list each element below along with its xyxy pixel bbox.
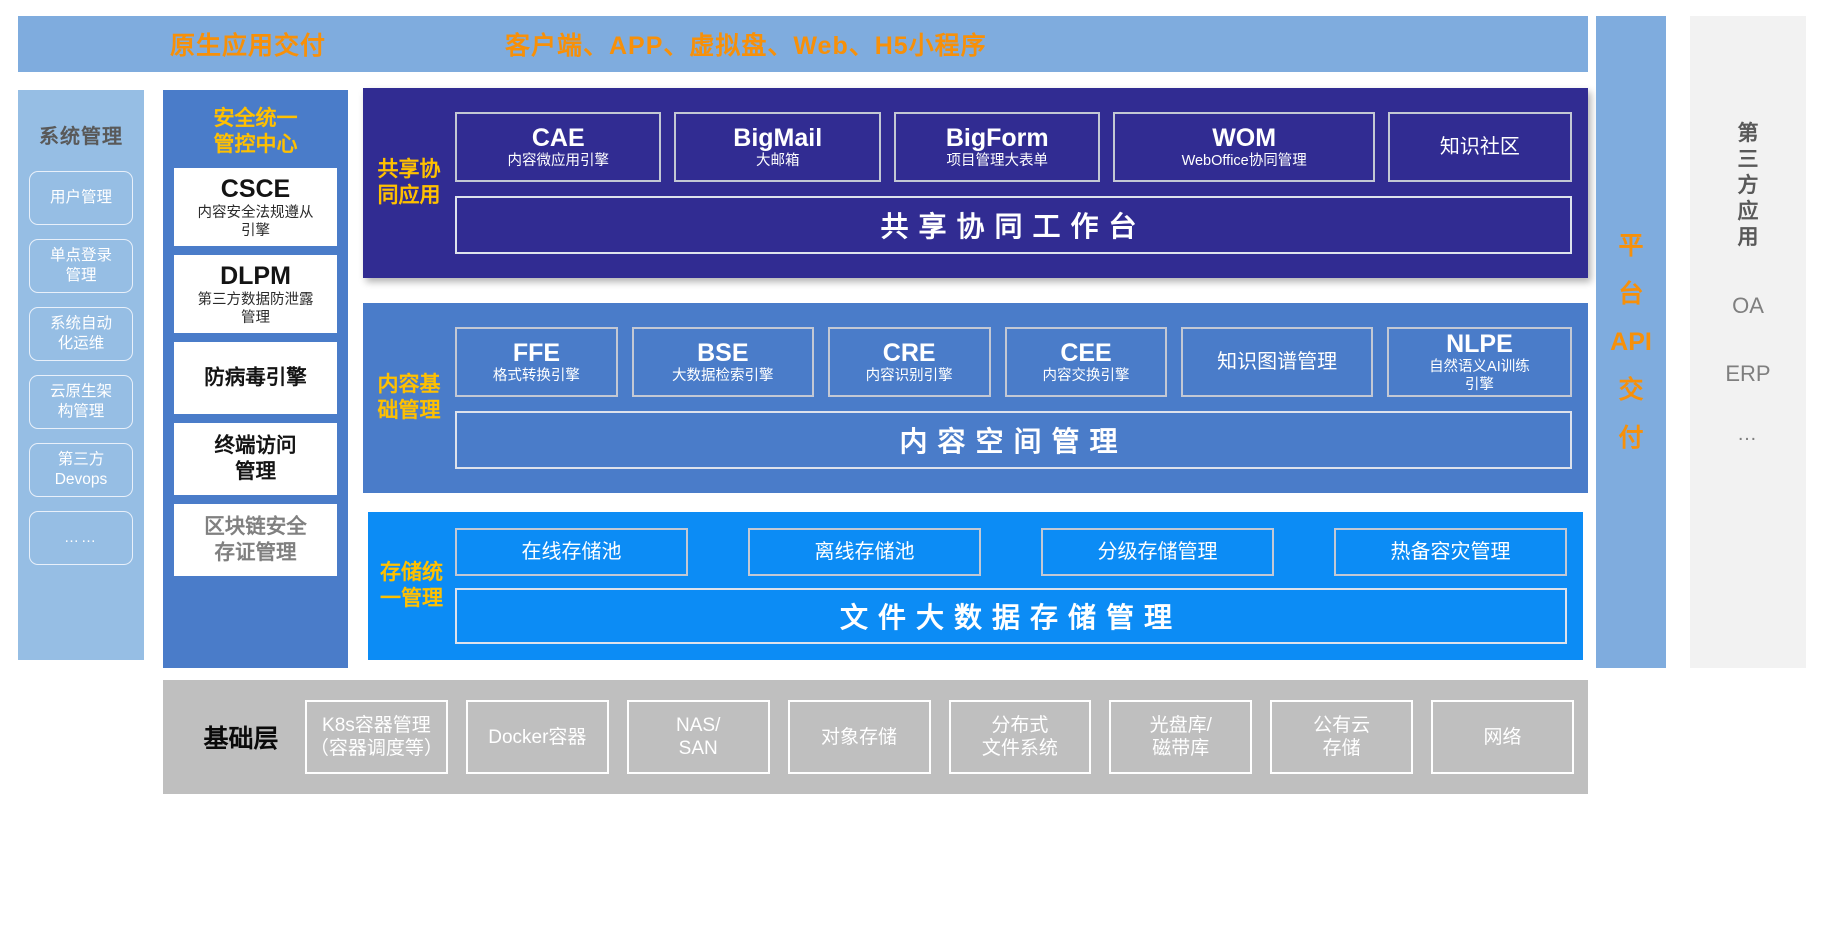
architecture-diagram: 原生应用交付 客户端、APP、虚拟盘、Web、H5小程序 系统管理 用户管理 单…: [0, 0, 1823, 928]
tiered-storage-mgmt-label: 分级存储管理: [1098, 540, 1218, 564]
infrastructure-tiles: K8s容器管理 （容器调度等） Docker容器 NAS/ SAN 对象存储 分…: [305, 700, 1574, 774]
content-foundation-tiles: FFE 格式转换引擎 BSE 大数据检索引擎 CRE 内容识别引擎 CEE 内容…: [455, 327, 1588, 397]
tile-tiered-storage-mgmt[interactable]: 分级存储管理: [1041, 528, 1274, 576]
bigform-code: BigForm: [946, 124, 1049, 153]
infra-tile-distributed-fs[interactable]: 分布式 文件系统: [949, 700, 1092, 774]
third-party-item-erp[interactable]: ERP: [1725, 361, 1770, 387]
platform-api-label: 平 台 API 交 付: [1610, 222, 1652, 462]
native-delivery-label: 原生应用交付: [170, 26, 326, 62]
third-party-item-oa[interactable]: OA: [1732, 293, 1764, 319]
cre-desc: 内容识别引擎: [866, 368, 953, 386]
bigmail-desc: 大邮箱: [756, 153, 800, 171]
infra-tile-object-storage[interactable]: 对象存储: [788, 700, 931, 774]
content-space-management-bar[interactable]: 内容空间管理: [455, 411, 1572, 469]
system-management-title: 系统管理: [39, 120, 123, 149]
system-management-column: 系统管理 用户管理 单点登录 管理 系统自动 化运维 云原生架 构管理 第三方 …: [18, 90, 144, 660]
security-control-center-column: 安全统一 管控中心 CSCE 内容安全法规遵从 引擎 DLPM 第三方数据防泄露…: [163, 90, 348, 668]
antivirus-engine-label: 防病毒引擎: [204, 365, 307, 391]
tile-bigmail[interactable]: BigMail 大邮箱: [674, 112, 880, 182]
third-party-item-more[interactable]: …: [1737, 423, 1759, 446]
tile-ffe[interactable]: FFE 格式转换引擎: [455, 327, 618, 397]
bse-desc: 大数据检索引擎: [672, 368, 774, 386]
shared-collaboration-tiles: CAE 内容微应用引擎 BigMail 大邮箱 BigForm 项目管理大表单 …: [455, 112, 1588, 182]
cee-code: CEE: [1060, 339, 1111, 368]
infra-tile-k8s[interactable]: K8s容器管理 （容器调度等）: [305, 700, 448, 774]
csce-code: CSCE: [221, 174, 290, 204]
sidebar-item-more[interactable]: ……: [29, 511, 133, 565]
blockchain-evidence-label: 区块链安全 存证管理: [204, 514, 307, 566]
security-item-csce[interactable]: CSCE 内容安全法规遵从 引擎: [174, 168, 337, 246]
nlpe-desc: 自然语义AI训练 引擎: [1429, 359, 1530, 394]
tile-cee[interactable]: CEE 内容交换引擎: [1005, 327, 1168, 397]
tile-cae[interactable]: CAE 内容微应用引擎: [455, 112, 661, 182]
infra-tile-nas-san[interactable]: NAS/ SAN: [627, 700, 770, 774]
hot-standby-dr-label: 热备容灾管理: [1391, 540, 1511, 564]
storage-tiles: 在线存储池 离线存储池 分级存储管理 热备容灾管理: [455, 528, 1583, 576]
dlpm-desc: 第三方数据防泄露 管理: [198, 291, 314, 327]
shared-collaboration-panel: 共享协 同应用 CAE 内容微应用引擎 BigMail 大邮箱 BigForm …: [363, 88, 1588, 278]
storage-unified-label: 存储统 一管理: [368, 512, 455, 660]
tile-bse[interactable]: BSE 大数据检索引擎: [632, 327, 814, 397]
top-delivery-banner: 原生应用交付 客户端、APP、虚拟盘、Web、H5小程序: [18, 16, 1588, 72]
tile-knowledge-community[interactable]: 知识社区: [1388, 112, 1572, 182]
cre-code: CRE: [883, 339, 936, 368]
infra-tile-optical-tape-library[interactable]: 光盘库/ 磁带库: [1109, 700, 1252, 774]
security-item-endpoint-access-mgmt[interactable]: 终端访问 管理: [174, 423, 337, 495]
bse-code: BSE: [697, 339, 748, 368]
tile-offline-storage-pool[interactable]: 离线存储池: [748, 528, 981, 576]
cee-desc: 内容交换引擎: [1043, 368, 1130, 386]
third-party-apps-column: 第 三 方 应 用 OA ERP …: [1690, 16, 1806, 668]
content-foundation-panel: 内容基 础管理 FFE 格式转换引擎 BSE 大数据检索引擎 CRE 内容识别引…: [363, 303, 1588, 493]
dlpm-code: DLPM: [220, 261, 291, 291]
nlpe-code: NLPE: [1446, 330, 1513, 359]
storage-unified-panel: 存储统 一管理 在线存储池 离线存储池 分级存储管理 热备容灾管理: [363, 500, 1588, 668]
security-item-blockchain-evidence[interactable]: 区块链安全 存证管理: [174, 504, 337, 576]
security-item-antivirus-engine[interactable]: 防病毒引擎: [174, 342, 337, 414]
bigform-desc: 项目管理大表单: [946, 153, 1048, 171]
cae-desc: 内容微应用引擎: [507, 153, 609, 171]
sidebar-item-third-party-devops[interactable]: 第三方 Devops: [29, 443, 133, 497]
tile-hot-standby-dr[interactable]: 热备容灾管理: [1334, 528, 1567, 576]
third-party-apps-title: 第 三 方 应 用: [1738, 121, 1759, 251]
infra-tile-public-cloud-storage[interactable]: 公有云 存储: [1270, 700, 1413, 774]
endpoint-access-label: 终端访问 管理: [215, 433, 297, 485]
ffe-desc: 格式转换引擎: [493, 368, 580, 386]
knowledge-community-label: 知识社区: [1440, 135, 1520, 159]
csce-desc: 内容安全法规遵从 引擎: [198, 204, 314, 240]
content-foundation-label: 内容基 础管理: [363, 303, 455, 493]
shared-collaboration-workbench-bar[interactable]: 共享协同工作台: [455, 196, 1572, 254]
tile-bigform[interactable]: BigForm 项目管理大表单: [894, 112, 1100, 182]
sidebar-item-auto-ops[interactable]: 系统自动 化运维: [29, 307, 133, 361]
storage-unified-inner: 存储统 一管理 在线存储池 离线存储池 分级存储管理 热备容灾管理: [368, 512, 1583, 660]
offline-storage-pool-label: 离线存储池: [815, 540, 915, 564]
knowledge-graph-label: 知识图谱管理: [1217, 350, 1337, 374]
security-center-title: 安全统一 管控中心: [214, 106, 298, 158]
file-bigdata-storage-bar[interactable]: 文件大数据存储管理: [455, 588, 1567, 644]
tile-wom[interactable]: WOM WebOffice协同管理: [1113, 112, 1374, 182]
infrastructure-layer: 基础层 K8s容器管理 （容器调度等） Docker容器 NAS/ SAN 对象…: [163, 680, 1588, 794]
wom-code: WOM: [1212, 124, 1276, 153]
infra-tile-docker[interactable]: Docker容器: [466, 700, 609, 774]
client-channels-label: 客户端、APP、虚拟盘、Web、H5小程序: [505, 26, 987, 62]
sidebar-item-cloud-native-arch[interactable]: 云原生架 构管理: [29, 375, 133, 429]
tile-cre[interactable]: CRE 内容识别引擎: [828, 327, 991, 397]
tile-knowledge-graph[interactable]: 知识图谱管理: [1181, 327, 1372, 397]
online-storage-pool-label: 在线存储池: [522, 540, 622, 564]
infrastructure-label: 基础层: [177, 719, 305, 755]
security-item-dlpm[interactable]: DLPM 第三方数据防泄露 管理: [174, 255, 337, 333]
sidebar-item-sso-mgmt[interactable]: 单点登录 管理: [29, 239, 133, 293]
tile-online-storage-pool[interactable]: 在线存储池: [455, 528, 688, 576]
infra-tile-network[interactable]: 网络: [1431, 700, 1574, 774]
cae-code: CAE: [532, 124, 585, 153]
sidebar-item-user-mgmt[interactable]: 用户管理: [29, 171, 133, 225]
tile-nlpe[interactable]: NLPE 自然语义AI训练 引擎: [1387, 327, 1572, 397]
wom-desc: WebOffice协同管理: [1182, 153, 1307, 171]
ffe-code: FFE: [513, 339, 560, 368]
bigmail-code: BigMail: [733, 124, 822, 153]
shared-collaboration-label: 共享协 同应用: [363, 88, 455, 278]
platform-api-column: 平 台 API 交 付: [1596, 16, 1666, 668]
